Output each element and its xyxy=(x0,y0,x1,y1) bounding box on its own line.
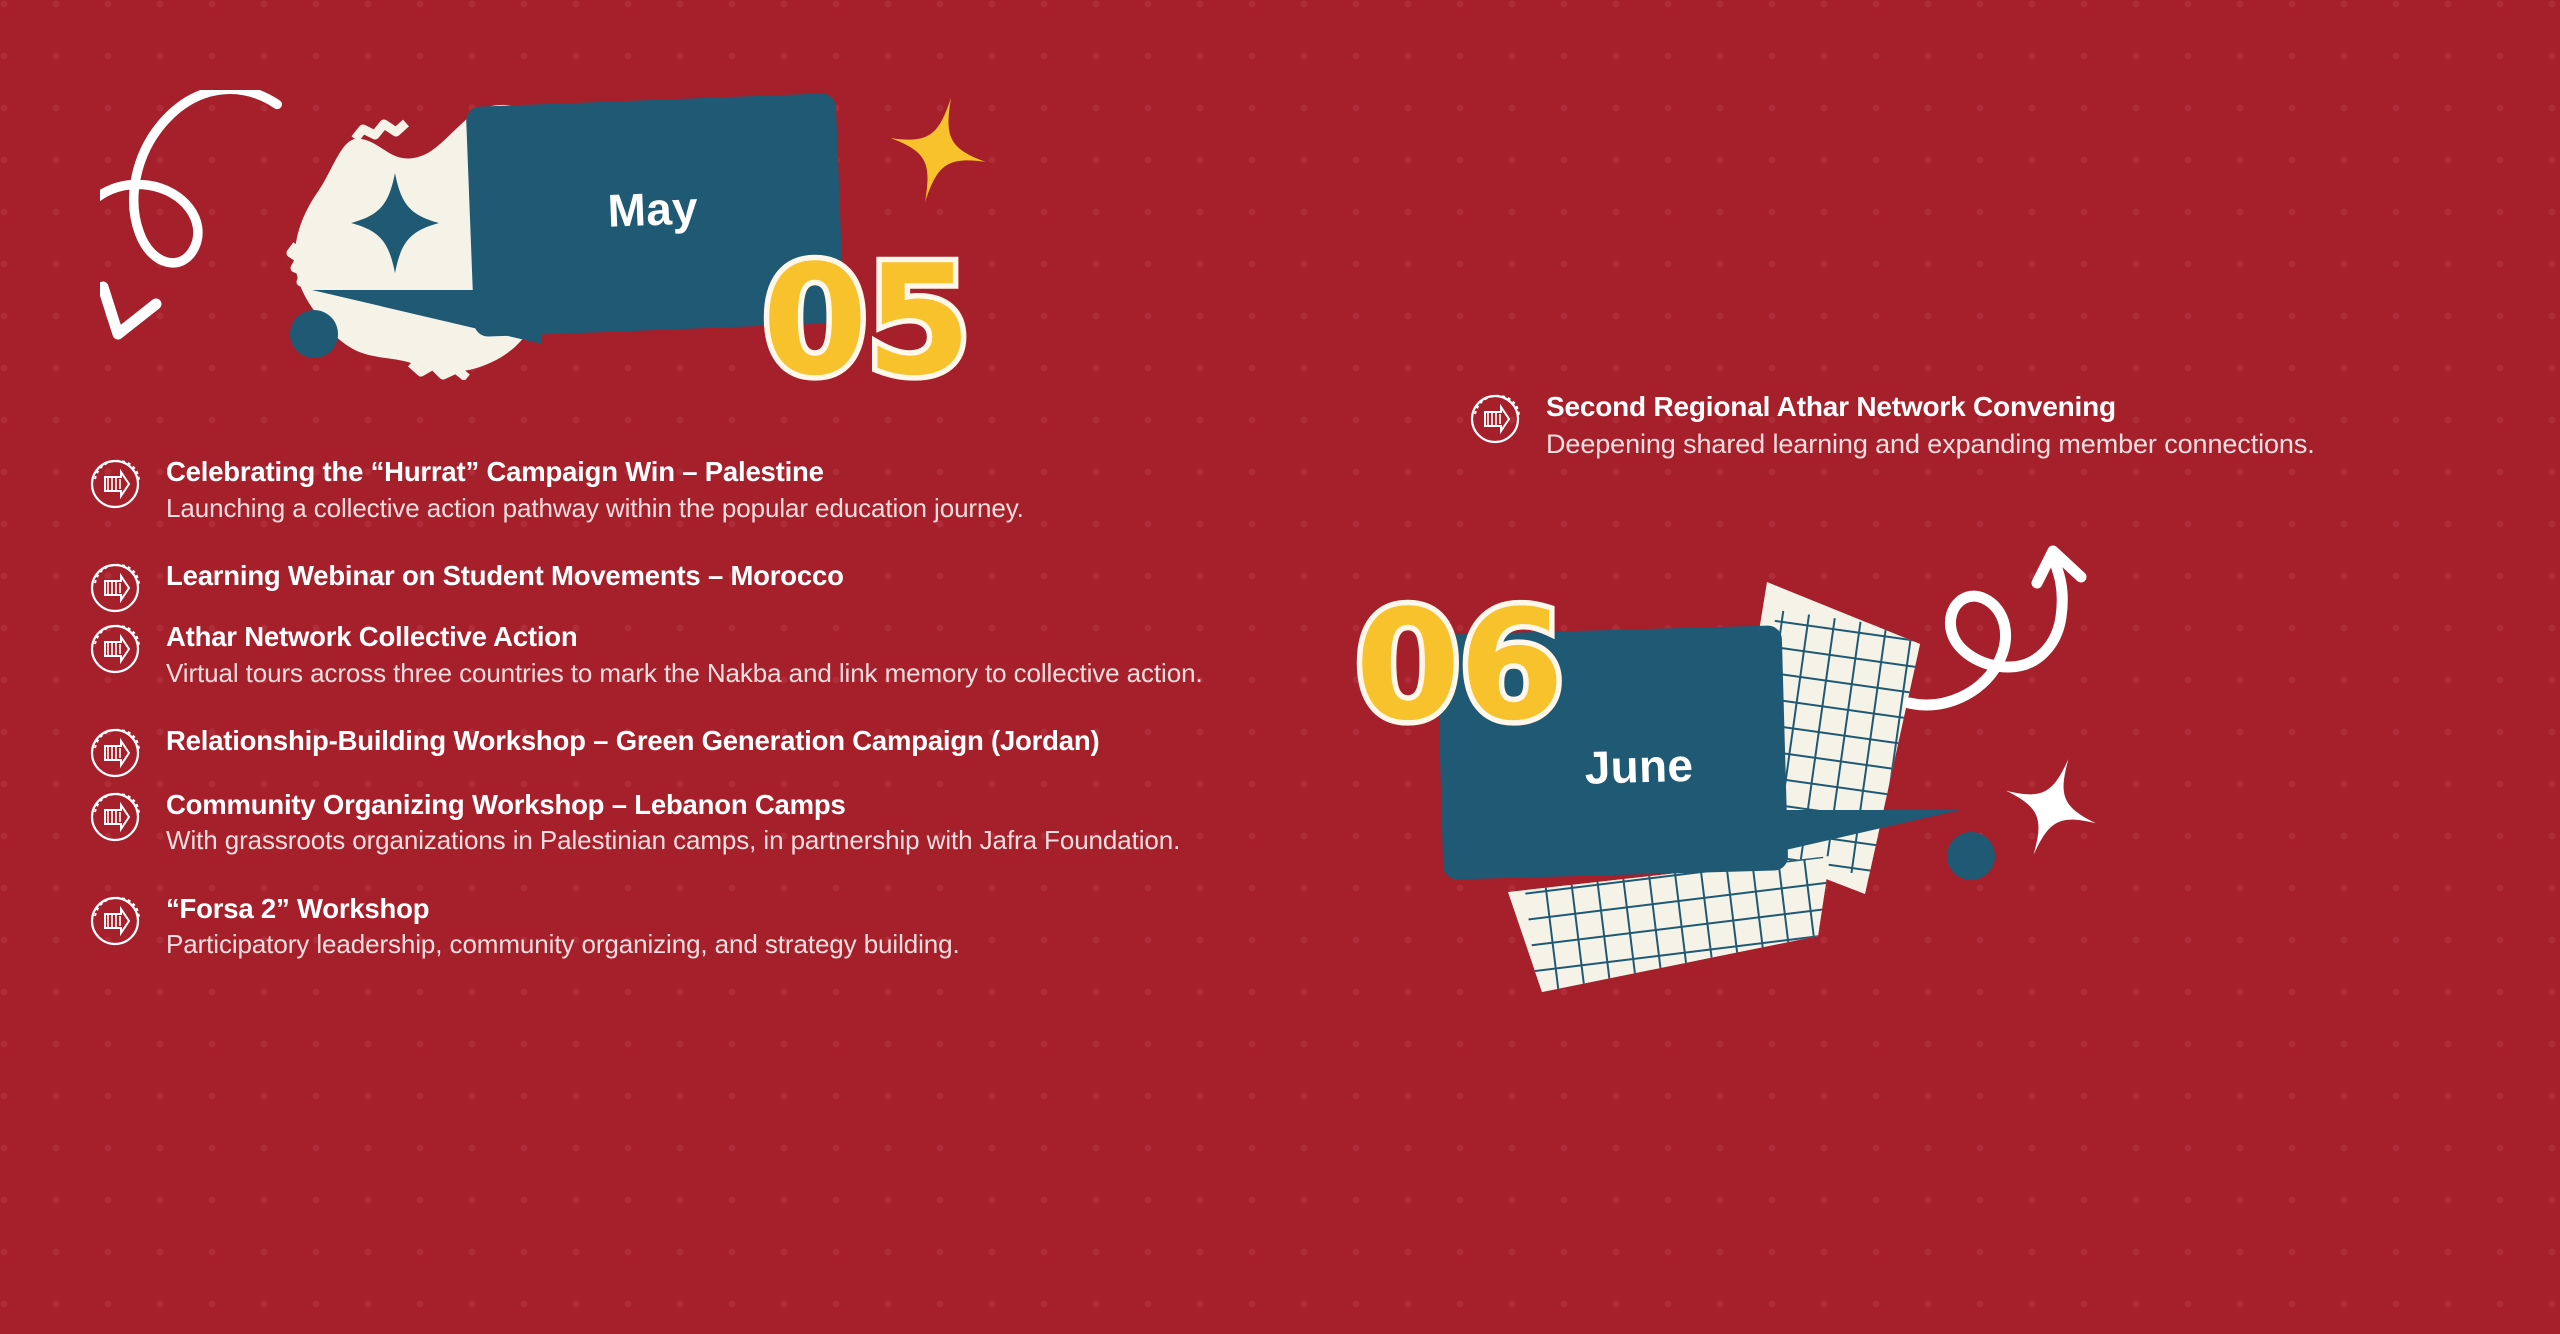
event-description: Participatory leadership, community orga… xyxy=(166,928,1278,961)
list-item[interactable]: Community Organizing Workshop – Lebanon … xyxy=(88,788,1278,858)
may-day-number: 05 xyxy=(762,245,970,397)
list-item[interactable]: Celebrating the “Hurrat” Campaign Win – … xyxy=(88,455,1278,525)
athar-network-logo-icon xyxy=(88,894,142,948)
yellow-sparkle-icon xyxy=(875,92,995,207)
may-accent-dot xyxy=(290,310,338,358)
event-title: Community Organizing Workshop – Lebanon … xyxy=(166,788,1278,822)
event-description: With grassroots organizations in Palesti… xyxy=(166,824,1251,857)
event-title: “Forsa 2” Workshop xyxy=(166,892,1278,926)
athar-network-logo-icon xyxy=(88,790,142,844)
list-item[interactable]: Second Regional Athar Network Convening … xyxy=(1468,390,2478,462)
list-item[interactable]: Athar Network Collective Action Virtual … xyxy=(88,620,1278,690)
event-description: Deepening shared learning and expanding … xyxy=(1546,427,2478,462)
event-title: Learning Webinar on Student Movements – … xyxy=(166,559,1278,593)
list-item[interactable]: Relationship-Building Workshop – Green G… xyxy=(88,724,1278,758)
list-item[interactable]: Learning Webinar on Student Movements – … xyxy=(88,559,1278,593)
event-title: Celebrating the “Hurrat” Campaign Win – … xyxy=(166,455,1278,489)
june-accent-dot xyxy=(1947,832,1995,880)
event-title: Second Regional Athar Network Convening xyxy=(1546,390,2478,424)
athar-network-logo-icon xyxy=(88,622,142,676)
event-title: Relationship-Building Workshop – Green G… xyxy=(166,724,1251,758)
poster-stage: May 05 xyxy=(0,0,2560,1334)
athar-network-logo-icon xyxy=(88,726,142,780)
june-event-list: Second Regional Athar Network Convening … xyxy=(1468,390,2478,462)
june-month-label: June xyxy=(1584,737,1694,794)
athar-network-logo-icon xyxy=(1468,392,1522,446)
may-event-list: Celebrating the “Hurrat” Campaign Win – … xyxy=(88,455,1278,961)
athar-network-logo-icon xyxy=(88,457,142,511)
list-item[interactable]: “Forsa 2” Workshop Participatory leaders… xyxy=(88,892,1278,962)
may-month-label: May xyxy=(607,180,699,237)
event-description: Virtual tours across three countries to … xyxy=(166,657,1251,690)
loop-up-arrow-icon xyxy=(1885,525,2150,730)
event-title: Athar Network Collective Action xyxy=(166,620,1278,654)
athar-network-logo-icon xyxy=(88,561,142,615)
white-sparkle-icon xyxy=(1995,752,2105,862)
event-description: Launching a collective action pathway wi… xyxy=(166,492,1278,525)
june-day-number: 06 xyxy=(1355,590,1563,742)
